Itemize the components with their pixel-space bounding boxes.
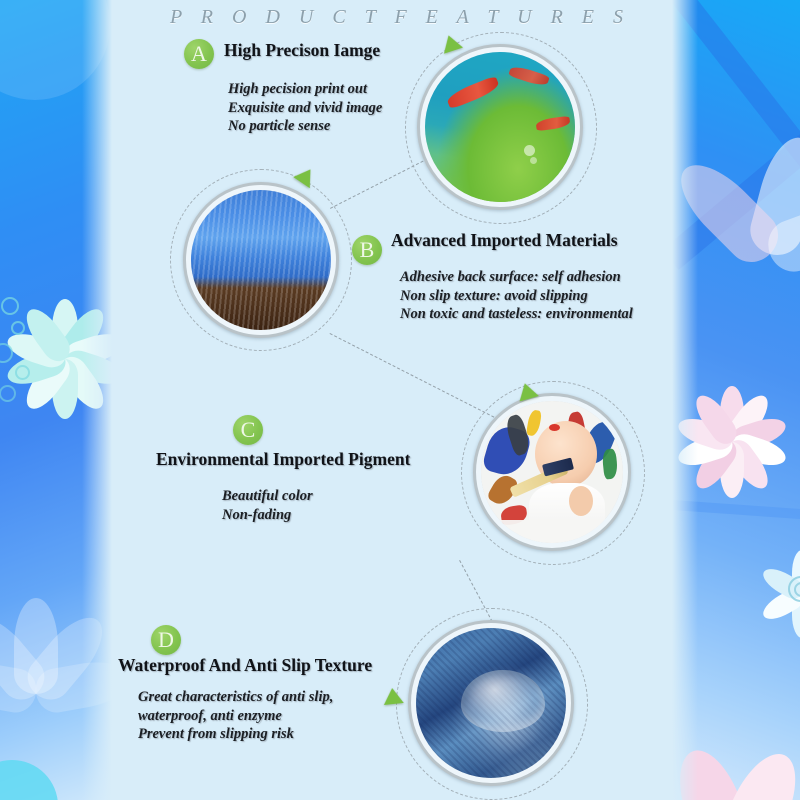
right-decorative-border [672,0,800,800]
feature-d-title: Waterproof And Anti Slip Texture [118,655,372,676]
feature-c-image [481,401,623,543]
left-main-flower-motif [63,355,67,359]
feature-a-title: High Precison Iamge [224,40,380,61]
feature-d-image [416,628,566,778]
left-decorative-border [0,0,112,800]
feature-b-photo [183,182,339,338]
feature-b-title: Advanced Imported Materials [391,230,618,251]
feature-b-badge: B [352,235,382,265]
feature-a-photo [417,44,583,210]
feature-b-image [191,190,331,330]
feature-c-badge: C [233,415,263,445]
feature-d-lines: Great characteristics of anti slip, wate… [138,688,333,744]
feature-a-badge: A [184,39,214,69]
feature-c-photo [473,393,631,551]
feature-c-title: Environmental Imported Pigment [156,449,410,470]
right-main-flower-motif [730,438,734,442]
feature-d-arrow-icon [382,687,404,705]
left-lower-flower-motif [34,690,38,694]
feature-d-badge: D [151,625,181,655]
feature-c-lines: Beautiful color Non-fading [222,487,313,524]
right-upper-flower-motif [768,250,772,254]
feature-d-photo [408,620,574,786]
page-title: P R O D U C T F E A T U R E S [0,6,800,29]
feature-a-lines: High pecision print out Exquisite and vi… [228,80,382,136]
feature-a-image [425,52,575,202]
feature-b-lines: Adhesive back surface: self adhesion Non… [400,268,633,324]
product-features-poster: P R O D U C T F E A T U R E S A High Pre… [0,0,800,800]
